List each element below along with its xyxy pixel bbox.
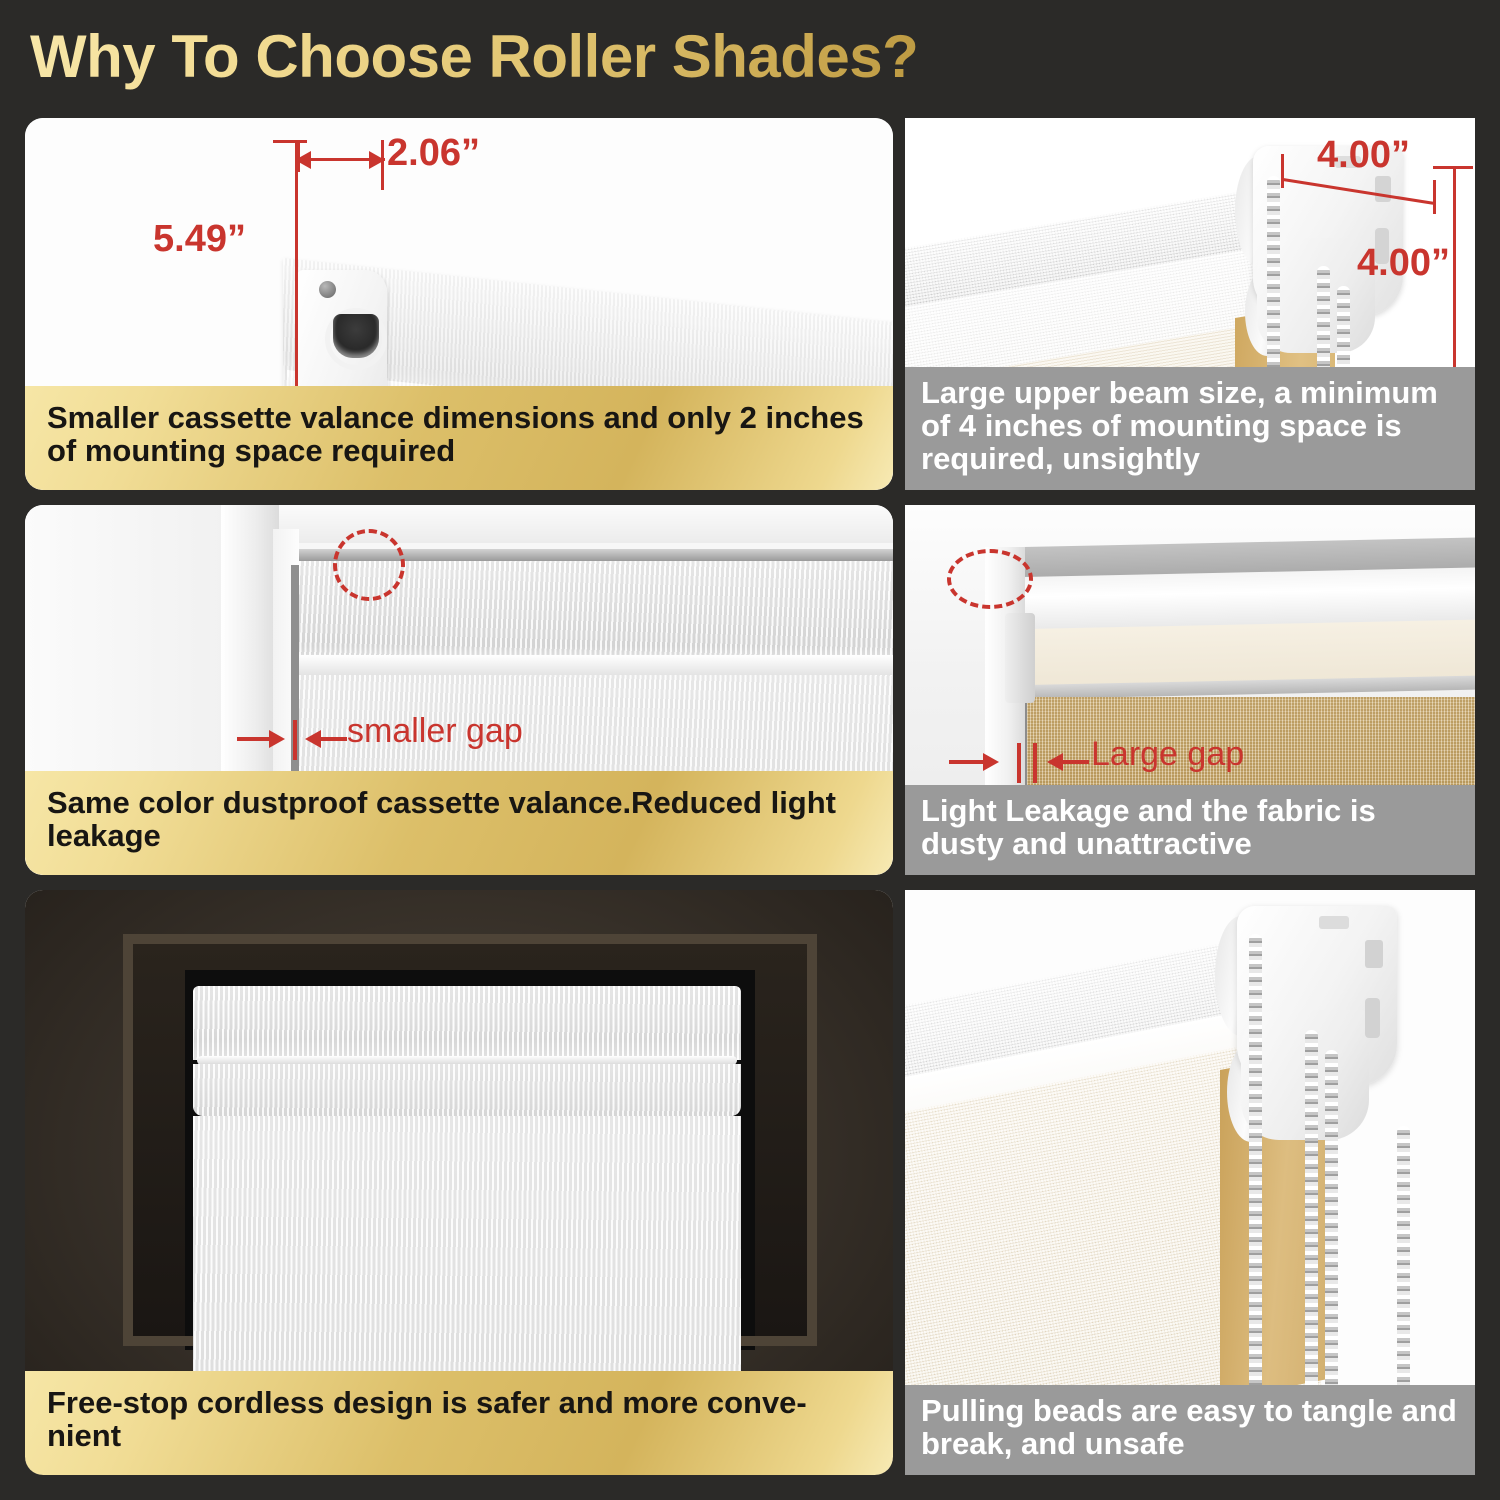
highlight-circle-icon — [333, 529, 405, 601]
panel-pulling-beads: Pulling beads are easy to tangle and bre… — [905, 890, 1475, 1475]
page-title: Why To Choose Roller Shades? — [30, 22, 918, 91]
gap-arrow-stem — [949, 760, 985, 764]
dimension-label-height: 4.00” — [1357, 242, 1450, 285]
gap-arrow-stem — [1063, 760, 1089, 764]
dimension-label-height: 5.49” — [153, 218, 246, 261]
panel-large-upper-beam: 4.00” 4.00” Large upper beam size, a min… — [905, 118, 1475, 490]
gap-arrow-left-icon — [305, 730, 321, 748]
gap-arrow-stem — [237, 737, 271, 741]
gap-arrow-left-icon — [1047, 753, 1063, 771]
panel-2-caption: Large upper beam size, a minimum of 4 in… — [905, 367, 1475, 490]
panel-1-caption: Smaller cassette valance dimensions and … — [25, 386, 893, 490]
panel-2-caption-text: Large upper beam size, a minimum of 4 in… — [921, 377, 1461, 476]
bead-chain — [1397, 1126, 1410, 1400]
panel-same-color-valance: smaller gap Same color dustproof cassett… — [25, 505, 893, 875]
panel-cordless-design: Free-stop cordless design is safer and m… — [25, 890, 893, 1475]
bead-chain — [1305, 1030, 1318, 1400]
panel-6-caption: Pulling beads are easy to tangle and bre… — [905, 1385, 1475, 1475]
panel-light-leakage: Large gap Light Leakage and the fabric i… — [905, 505, 1475, 875]
dim-tick — [273, 140, 307, 143]
gap-marker — [293, 720, 297, 760]
panel-4-caption-text: Light Leakage and the fabric is dusty an… — [921, 795, 1461, 861]
bead-chain — [1325, 1050, 1338, 1400]
gap-arrow-right-icon — [983, 753, 999, 771]
panel-5-caption-text: Free-stop cordless design is safer and m… — [47, 1387, 807, 1453]
gap-label: smaller gap — [347, 712, 523, 751]
bead-chain — [1249, 934, 1262, 1394]
panel-3-caption: Same color dustproof cassette valance.Re… — [25, 771, 893, 875]
dim-arrow — [369, 151, 385, 169]
infographic-root: Why To Choose Roller Shades? 2.06” — [0, 0, 1500, 1500]
panel-5-caption: Free-stop cordless design is safer and m… — [25, 1371, 893, 1475]
gap-arrow-stem — [321, 737, 347, 741]
panel-1-caption-text: Smaller cassette valance dimensions and … — [47, 402, 873, 468]
gap-marker — [1017, 743, 1021, 783]
gap-marker — [1033, 743, 1037, 783]
dim-line-height — [1453, 166, 1456, 382]
panel-smaller-cassette: 2.06” 5.49” Smaller cassette valance dim… — [25, 118, 893, 490]
panel-4-caption: Light Leakage and the fabric is dusty an… — [905, 785, 1475, 875]
dim-tick — [1281, 154, 1284, 188]
dim-tick — [1433, 166, 1473, 169]
dimension-label-width: 4.00” — [1317, 134, 1410, 177]
panel-3-caption-text: Same color dustproof cassette valance.Re… — [47, 787, 873, 853]
dim-tick — [1433, 180, 1436, 214]
highlight-circle-icon — [947, 549, 1033, 609]
panel-6-caption-text: Pulling beads are easy to tangle and bre… — [921, 1395, 1461, 1461]
dimension-label-width: 2.06” — [387, 132, 480, 175]
gap-label: Large gap — [1091, 735, 1244, 774]
gap-arrow-right-icon — [269, 730, 285, 748]
